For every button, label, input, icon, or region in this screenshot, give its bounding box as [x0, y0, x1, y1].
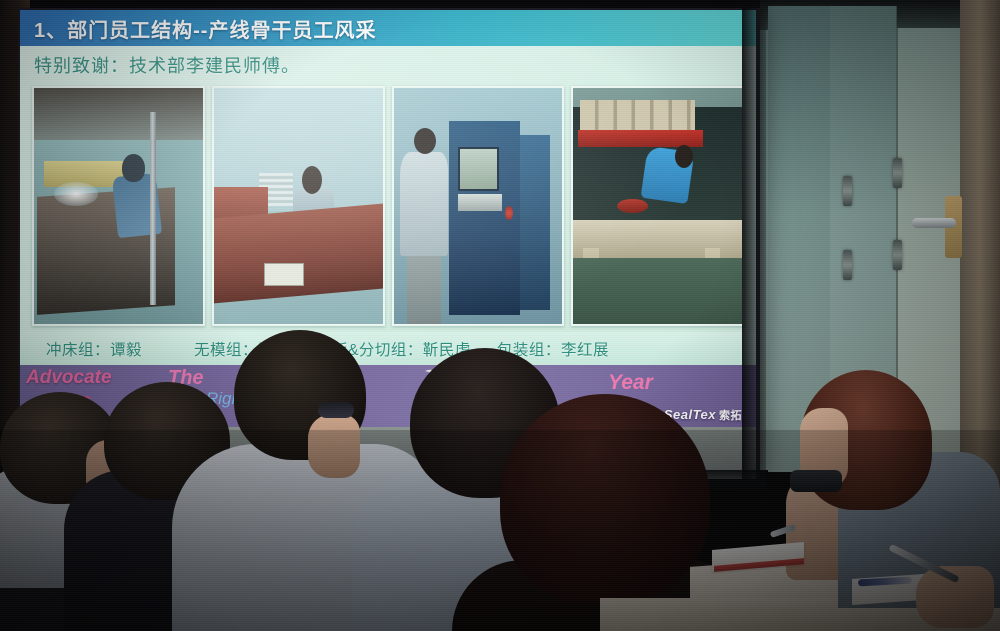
door-hinge-lower	[893, 240, 902, 270]
footer-year-word: Year	[608, 371, 653, 395]
screen-right-edge	[742, 8, 766, 486]
photo-punch-press	[32, 86, 205, 326]
caption-group-1: 冲床组：谭毅	[46, 338, 142, 360]
panel-hinge-lower	[843, 250, 852, 280]
attendee-3-hand	[308, 414, 360, 478]
photo-cnc-panel	[392, 86, 565, 326]
photo-packing-station	[571, 86, 744, 326]
attendee-3-glasses	[318, 402, 354, 418]
panel-hinge-upper	[843, 176, 852, 206]
slide-title: 1、部门员工结构--产线骨干员工风采	[34, 14, 376, 43]
brand-name-cn: 索拓	[719, 410, 742, 422]
presentation-slide: 1、部门员工结构--产线骨干员工风采 特别致谢：技术部李建民师傅。	[20, 10, 756, 365]
photo-cutting-machine	[212, 86, 385, 326]
attendee-5-head	[500, 394, 710, 604]
attendee-6-wristwatch	[790, 470, 842, 492]
door-handle-lever[interactable]	[912, 218, 956, 228]
photo-strip	[32, 86, 744, 326]
door-hinge-upper	[893, 158, 902, 188]
photo-captions: 冲床组：谭毅 无模组：张琦 剪板&分切组：靳民虎 包装组：李红展	[20, 332, 756, 365]
footer-deco-advocate: Advocate	[26, 367, 112, 389]
slide-title-bar: 1、部门员工结构--产线骨干员工风采	[20, 10, 756, 46]
slide-subtitle: 特别致谢：技术部李建民师傅。	[34, 52, 300, 78]
meeting-room-photo: 1、部门员工结构--产线骨干员工风采 特别致谢：技术部李建民师傅。	[0, 0, 1000, 631]
